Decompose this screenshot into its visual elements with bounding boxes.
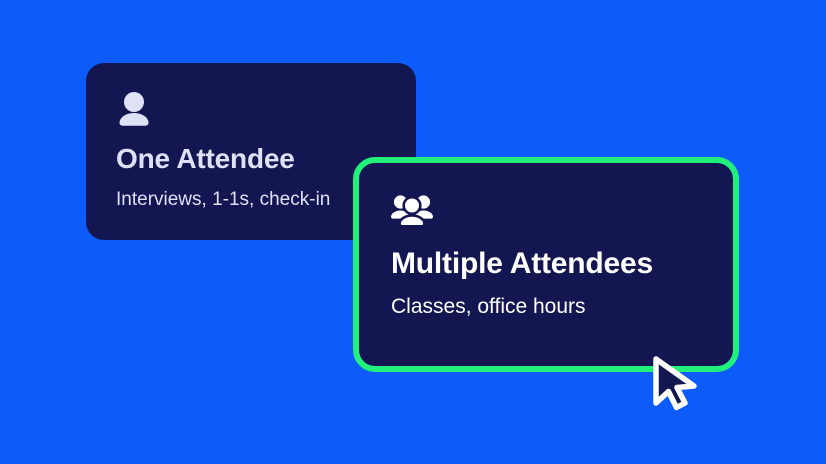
card-multiple-attendees-subtitle: Classes, office hours	[391, 295, 701, 319]
card-one-attendee-subtitle: Interviews, 1-1s, check-in	[116, 189, 386, 211]
single-person-icon	[116, 91, 386, 129]
screen-canvas: One Attendee Interviews, 1-1s, check-in	[0, 0, 826, 464]
card-multiple-attendees[interactable]: Multiple Attendees Classes, office hours	[353, 157, 739, 372]
card-one-attendee-title: One Attendee	[116, 143, 386, 175]
group-people-icon	[391, 193, 701, 233]
card-multiple-attendees-title: Multiple Attendees	[391, 247, 701, 281]
card-multiple-attendees-content: Multiple Attendees Classes, office hours	[359, 163, 733, 366]
